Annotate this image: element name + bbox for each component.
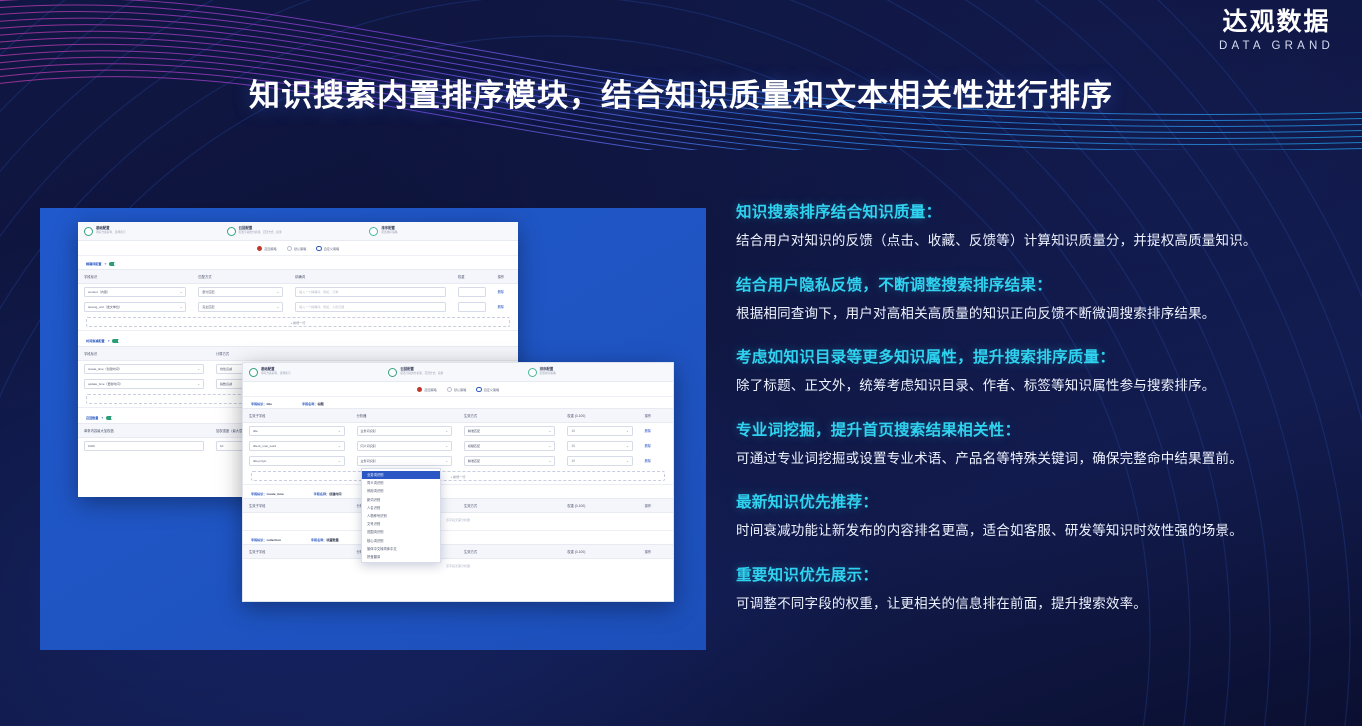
table-row: content（内容）⌄ 部分匹配⌄ 输入一个精确词，例如：订单 删除 bbox=[78, 284, 518, 300]
section-toggle-switch[interactable] bbox=[106, 416, 115, 421]
col-weight: 权重 (0-100) bbox=[561, 499, 638, 513]
col-mode: 生效方式 bbox=[458, 545, 561, 559]
step-desc: 填写方案名称、选择索引 bbox=[96, 231, 126, 235]
keyword-input[interactable]: 输入一个精确词，例如：人民日报 bbox=[295, 302, 446, 312]
step-indicator-back: 基础配置 填写方案名称、选择索引 召回配置 配置字段的分析器、召回方式、权重 排… bbox=[78, 222, 518, 241]
chevron-down-icon: ⌄ bbox=[277, 290, 280, 294]
delete-row-link[interactable]: 删除 bbox=[645, 429, 651, 433]
radio-option[interactable]: 召回策略 bbox=[417, 387, 437, 392]
radio-label: 召回策略 bbox=[424, 387, 436, 392]
mode-select[interactable]: 模糊匹配⌄ bbox=[464, 441, 555, 451]
field-name-value: 标题 bbox=[317, 402, 323, 406]
weight-input[interactable] bbox=[458, 287, 486, 297]
col-mode: 生效方式 bbox=[458, 409, 561, 423]
radio-dot-icon bbox=[476, 387, 481, 392]
table-row: issuing_unit（发文单位）⌄ 完全匹配⌄ 输入一个精确词，例如：人民日… bbox=[78, 299, 518, 314]
col-subfield: 生效子字段 bbox=[243, 499, 351, 513]
table-header-row: 生效子字段 分析器 生效方式 权重 (0-100) 操作 bbox=[243, 409, 673, 423]
chevron-down-icon: ⌄ bbox=[180, 290, 183, 294]
col-action: 操作 bbox=[639, 409, 673, 423]
step-item[interactable]: 基础配置 填写方案名称、选择索引 bbox=[249, 367, 388, 377]
col-field-id: 字段标识 bbox=[78, 347, 210, 361]
chevron-down-icon: ⌄ bbox=[549, 429, 552, 433]
feature-block: 知识搜索排序结合知识质量： 结合用户对知识的反馈（点击、收藏、反馈等）计算知识质… bbox=[736, 200, 1350, 251]
step-desc: 填写方案名称、选择索引 bbox=[261, 372, 291, 376]
step-circle-icon bbox=[249, 368, 258, 377]
divider bbox=[243, 484, 673, 485]
dropdown-option[interactable]: 拼音翻译 bbox=[362, 552, 440, 560]
radio-label: 默认策略 bbox=[454, 387, 466, 392]
step-desc: 配置字段的分析器、召回方式、权重 bbox=[239, 231, 282, 235]
chevron-down-icon: ⌄ bbox=[197, 367, 200, 371]
table-header-row: 生效子字段 分析器 生效方式 权重 (0-100) 操作 bbox=[243, 499, 673, 513]
dropdown-option[interactable]: 繁体中文转简体中文 bbox=[362, 544, 440, 552]
field-name-label: 字段名称： bbox=[302, 402, 317, 406]
radio-option[interactable]: 默认策略 bbox=[447, 387, 467, 392]
mode-select[interactable]: 精准匹配⌄ bbox=[464, 456, 555, 466]
step-desc: 配置字段的分析器、召回方式、权重 bbox=[400, 372, 443, 376]
empty-state-text: 该字段无需分析器 bbox=[243, 559, 673, 574]
field-id-value: title bbox=[266, 402, 272, 406]
chevron-down-icon: ⌄ bbox=[626, 429, 629, 433]
step-circle-icon bbox=[528, 368, 537, 377]
analyzer-select[interactable]: 业务词识别⌄ bbox=[357, 456, 453, 466]
chevron-down-icon: ⌄ bbox=[277, 305, 280, 309]
step-circle-icon bbox=[227, 227, 236, 236]
radio-dot-icon bbox=[287, 246, 292, 251]
delete-row-link[interactable]: 删除 bbox=[498, 290, 504, 294]
analyzer-table-title: 生效子字段 分析器 生效方式 权重 (0-100) 操作 title⌄ 业务词识… bbox=[243, 408, 673, 468]
field-group-header-create-time: 字段标识：create_time 字段名称：创建时间 bbox=[243, 487, 673, 498]
feature-heading: 知识搜索排序结合知识质量： bbox=[736, 200, 1350, 222]
screenshot-analyzer-config-front[interactable]: 基础配置 填写方案名称、选择索引 召回配置 配置字段的分析器、召回方式、权重 排… bbox=[242, 362, 674, 602]
field-select[interactable]: create_time（创建时间）⌄ bbox=[84, 364, 204, 374]
step-item[interactable]: 排序配置 配置排序策略 bbox=[528, 367, 667, 377]
chevron-down-icon: ⌄ bbox=[626, 459, 629, 463]
feature-heading: 最新知识优先推荐： bbox=[736, 490, 1350, 512]
field-select[interactable]: update_time（更新时间）⌄ bbox=[84, 379, 204, 389]
step-item[interactable]: 召回配置 配置字段的分析器、召回方式、权重 bbox=[388, 367, 527, 377]
weight-select[interactable]: 10⌄ bbox=[567, 441, 632, 451]
table-header-row: 生效子字段 分析器 生效方式 权重 (0-100) 操作 bbox=[243, 545, 673, 559]
subfield-select[interactable]: title.pinyin⌄ bbox=[249, 456, 345, 466]
analyzer-dropdown-menu[interactable]: 业务词识别 同义词识别 停用词识别 新词识别 人名识别 人物称号识别 文号识别 … bbox=[361, 468, 441, 563]
help-icon[interactable]: ? bbox=[108, 339, 110, 343]
field-id-label: 字段标识： bbox=[251, 492, 266, 496]
section-toggle-switch[interactable] bbox=[109, 262, 118, 267]
radio-option[interactable]: 自定义策略 bbox=[316, 246, 339, 251]
help-icon[interactable]: ? bbox=[104, 262, 106, 266]
feature-heading: 专业词挖掘，提升首页搜索结果相关性： bbox=[736, 418, 1350, 440]
dropdown-option[interactable]: 文号识别 bbox=[362, 520, 440, 528]
feature-body: 根据相同查询下，用户对高相关高质量的知识正向反馈不断微调搜索排序结果。 bbox=[736, 304, 1350, 324]
exact-word-table: 字段标识 匹配方式 精确词 权重 操作 content（内容）⌄ 部分匹配⌄ 输… bbox=[78, 269, 518, 314]
delete-row-link[interactable]: 删除 bbox=[645, 459, 651, 463]
section-header-time-decay: 时间衰减配置 ? bbox=[78, 333, 518, 346]
radio-dot-icon bbox=[447, 387, 452, 392]
section-toggle-switch[interactable] bbox=[112, 339, 121, 344]
chevron-down-icon: ⌄ bbox=[338, 429, 341, 433]
col-keyword: 精确词 bbox=[289, 270, 452, 284]
dropdown-option-selected[interactable]: 业务词识别 bbox=[362, 471, 440, 479]
add-row-button[interactable]: + 新增一行 bbox=[86, 317, 510, 327]
divider bbox=[243, 530, 673, 531]
feature-block: 重要知识优先展示： 可调整不同字段的权重，让更相关的信息排在前面，提升搜索效率。 bbox=[736, 563, 1350, 614]
col-action: 操作 bbox=[639, 545, 673, 559]
brand-name-en: DATA GRAND bbox=[1219, 41, 1334, 53]
table-row: title.pinyin⌄ 业务词识别⌄ 精准匹配⌄ 10⌄ 删除 bbox=[243, 453, 673, 468]
subfield-select[interactable]: title.ik_max_word⌄ bbox=[249, 441, 345, 451]
dropdown-option[interactable]: 范围词识别 bbox=[362, 528, 440, 536]
subfield-select[interactable]: title⌄ bbox=[249, 426, 345, 436]
step-desc: 配置排序策略 bbox=[540, 372, 556, 376]
field-name-label: 字段名称： bbox=[314, 492, 329, 496]
page-title: 知识搜索内置排序模块，结合知识质量和文本相关性进行排序 bbox=[0, 70, 1362, 115]
feature-block: 结合用户隐私反馈，不断调整搜索排序结果： 根据相同查询下，用户对高相关高质量的知… bbox=[736, 273, 1350, 324]
col-subfield: 生效子字段 bbox=[243, 409, 351, 423]
feature-body: 时间衰减功能让新发布的内容排名更高，适合如客服、研发等知识时效性强的场景。 bbox=[736, 521, 1350, 541]
weight-select[interactable]: 10⌄ bbox=[567, 426, 632, 436]
feature-body: 可通过专业词挖掘或设置专业术语、产品名等特殊关键词，确保完整命中结果置前。 bbox=[736, 449, 1350, 469]
feature-block: 专业词挖掘，提升首页搜索结果相关性： 可通过专业词挖掘或设置专业术语、产品名等特… bbox=[736, 418, 1350, 469]
radio-label: 自定义策略 bbox=[324, 246, 339, 251]
col-mode: 生效方式 bbox=[458, 499, 561, 513]
table-row: title⌄ 业务词识别⌄ 精准匹配⌄ 10⌄ 删除 bbox=[243, 423, 673, 439]
brand-logo: 达观数据 DATA GRAND bbox=[1219, 10, 1334, 53]
chevron-down-icon: ⌄ bbox=[445, 429, 448, 433]
dropdown-option[interactable]: 人物称号识别 bbox=[362, 511, 440, 519]
step-circle-icon bbox=[388, 368, 397, 377]
table-row: title.ik_max_word⌄ 同义词识别⌄ 模糊匹配⌄ 10⌄ 删除 bbox=[243, 438, 673, 453]
field-name-value: 创建时间 bbox=[329, 492, 341, 496]
col-calc-mode: 计算方式 bbox=[210, 347, 518, 361]
field-id-label: 字段标识： bbox=[251, 538, 266, 542]
section-title-text: 时间衰减配置 bbox=[86, 338, 105, 343]
dropdown-option[interactable]: 人名识别 bbox=[362, 503, 440, 511]
field-name-value: 收藏数量 bbox=[326, 538, 338, 542]
brand-name-cn: 达观数据 bbox=[1219, 10, 1334, 35]
field-group-header-collection: 字段标识：collection 字段名称：收藏数量 bbox=[243, 533, 673, 544]
step-desc: 配置排序策略 bbox=[381, 231, 397, 235]
col-analyzer: 分析器 bbox=[351, 409, 459, 423]
radio-option[interactable]: 自定义策略 bbox=[476, 387, 499, 392]
chevron-down-icon: ⌄ bbox=[445, 444, 448, 448]
feature-body: 除了标题、正文外，统筹考虑知识目录、作者、标签等知识属性参与搜索排序。 bbox=[736, 376, 1350, 396]
chevron-down-icon: ⌄ bbox=[338, 444, 341, 448]
analyzer-select[interactable]: 业务词识别⌄ bbox=[357, 426, 453, 436]
divider bbox=[78, 330, 518, 331]
step-circle-icon bbox=[84, 227, 93, 236]
delete-row-link[interactable]: 删除 bbox=[645, 444, 651, 448]
col-weight: 权重 (0-100) bbox=[561, 545, 638, 559]
col-subfield: 生效子字段 bbox=[243, 545, 351, 559]
weight-input[interactable] bbox=[458, 302, 486, 312]
add-row-button[interactable]: + 新增一行 bbox=[251, 471, 665, 481]
table-header-row: 字段标识 匹配方式 精确词 权重 操作 bbox=[78, 270, 518, 284]
feature-block: 最新知识优先推荐： 时间衰减功能让新发布的内容排名更高，适合如客服、研发等知识时… bbox=[736, 490, 1350, 541]
mode-select[interactable]: 精准匹配⌄ bbox=[464, 426, 555, 436]
chevron-down-icon: ⌄ bbox=[626, 444, 629, 448]
radio-option[interactable]: 召回策略 bbox=[257, 246, 277, 251]
match-mode-select[interactable]: 完全匹配⌄ bbox=[198, 302, 283, 312]
slide-canvas: 达观数据 DATA GRAND 知识搜索内置排序模块，结合知识质量和文本相关性进… bbox=[0, 0, 1362, 726]
max-value-input[interactable]: 1000 bbox=[84, 441, 204, 451]
radio-dot-icon bbox=[257, 246, 262, 251]
col-action: 操作 bbox=[639, 499, 673, 513]
col-weight: 权重 bbox=[452, 270, 492, 284]
weight-select[interactable]: 10⌄ bbox=[567, 456, 632, 466]
chevron-down-icon: ⌄ bbox=[549, 459, 552, 463]
step-item[interactable]: 召回配置 配置字段的分析器、召回方式、权重 bbox=[227, 226, 370, 236]
radio-dot-icon bbox=[316, 246, 321, 251]
feature-list: 知识搜索排序结合知识质量： 结合用户对知识的反馈（点击、收藏、反馈等）计算知识质… bbox=[736, 200, 1350, 613]
dropdown-option[interactable]: 新词识别 bbox=[362, 495, 440, 503]
chevron-down-icon: ⌄ bbox=[338, 459, 341, 463]
field-select[interactable]: content（内容）⌄ bbox=[84, 287, 186, 297]
radio-label: 默认策略 bbox=[294, 246, 306, 251]
field-id-value: create_time bbox=[266, 492, 283, 496]
analyzer-select[interactable]: 同义词识别⌄ bbox=[357, 441, 453, 451]
step-indicator-front: 基础配置 填写方案名称、选择索引 召回配置 配置字段的分析器、召回方式、权重 排… bbox=[243, 363, 673, 382]
strategy-radio-group-back[interactable]: 召回策略 默认策略 自定义策略 bbox=[78, 241, 518, 256]
col-field-id: 字段标识 bbox=[78, 270, 192, 284]
feature-heading: 重要知识优先展示： bbox=[736, 563, 1350, 585]
keyword-input[interactable]: 输入一个精确词，例如：订单 bbox=[295, 287, 446, 297]
field-id-value: collection bbox=[266, 538, 280, 542]
feature-body: 结合用户对知识的反馈（点击、收藏、反馈等）计算知识质量分，并提权高质量知识。 bbox=[736, 231, 1350, 251]
col-weight: 权重 (0-100) bbox=[561, 409, 638, 423]
analyzer-table-collection: 生效子字段 分析器 生效方式 权重 (0-100) 操作 bbox=[243, 544, 673, 559]
col-match-mode: 匹配方式 bbox=[192, 270, 289, 284]
dropdown-option[interactable]: 同义词识别 bbox=[362, 479, 440, 487]
analyzer-table-create-time: 生效子字段 分析器 生效方式 权重 (0-100) 操作 bbox=[243, 498, 673, 513]
section-title-text: 召回数量 bbox=[86, 415, 98, 420]
strategy-radio-group-front[interactable]: 召回策略 默认策略 自定义策略 bbox=[243, 382, 673, 397]
dropdown-option[interactable]: 停用词识别 bbox=[362, 487, 440, 495]
step-circle-icon bbox=[369, 227, 378, 236]
col-max-value: 单条内容最大加权值 bbox=[78, 424, 210, 438]
section-title-text: 精确词配置 bbox=[86, 261, 101, 266]
chevron-down-icon: ⌄ bbox=[549, 444, 552, 448]
field-name-label: 字段名称： bbox=[311, 538, 326, 542]
field-select[interactable]: issuing_unit（发文单位）⌄ bbox=[84, 302, 186, 312]
radio-label: 自定义策略 bbox=[484, 387, 499, 392]
dropdown-option[interactable]: 核心词识别 bbox=[362, 536, 440, 544]
radio-label: 召回策略 bbox=[264, 246, 276, 251]
chevron-down-icon: ⌄ bbox=[180, 305, 183, 309]
radio-option[interactable]: 默认策略 bbox=[287, 246, 307, 251]
table-header-row: 字段标识 计算方式 bbox=[78, 347, 518, 361]
section-header-exact-words: 精确词配置 ? bbox=[78, 256, 518, 269]
feature-heading: 结合用户隐私反馈，不断调整搜索排序结果： bbox=[736, 273, 1350, 295]
feature-heading: 考虑如知识目录等更多知识属性，提升搜索排序质量： bbox=[736, 345, 1350, 367]
step-item[interactable]: 排序配置 配置排序策略 bbox=[369, 226, 512, 236]
col-action: 操作 bbox=[492, 270, 518, 284]
delete-row-link[interactable]: 删除 bbox=[498, 305, 504, 309]
chevron-down-icon: ⌄ bbox=[197, 382, 200, 386]
help-icon[interactable]: ? bbox=[101, 416, 103, 420]
feature-body: 可调整不同字段的权重，让更相关的信息排在前面，提升搜索效率。 bbox=[736, 594, 1350, 614]
field-group-header-title: 字段标识：title 字段名称：标题 bbox=[243, 397, 673, 408]
step-item[interactable]: 基础配置 填写方案名称、选择索引 bbox=[84, 226, 227, 236]
feature-block: 考虑如知识目录等更多知识属性，提升搜索排序质量： 除了标题、正文外，统筹考虑知识… bbox=[736, 345, 1350, 396]
radio-dot-icon bbox=[417, 387, 422, 392]
match-mode-select[interactable]: 部分匹配⌄ bbox=[198, 287, 283, 297]
field-id-label: 字段标识： bbox=[251, 402, 266, 406]
chevron-down-icon: ⌄ bbox=[445, 459, 448, 463]
empty-state-text: 该字段无需分析器 bbox=[243, 513, 673, 528]
